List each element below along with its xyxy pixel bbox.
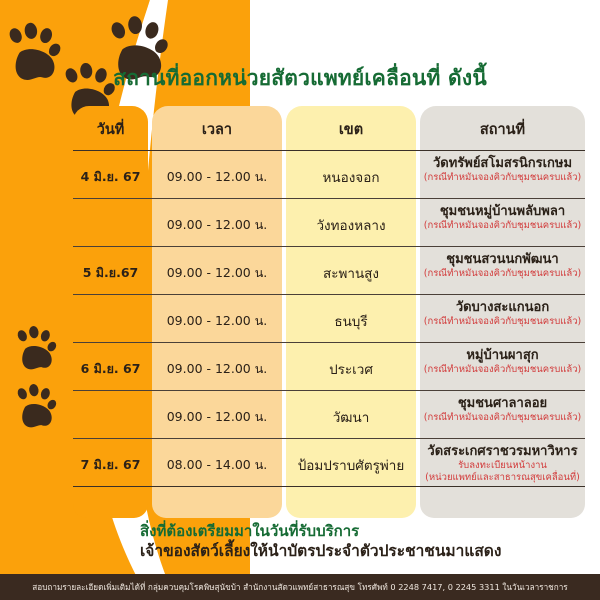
cell-time: 09.00 - 12.00 น.	[152, 215, 282, 235]
table-grid: วันที่ เวลา เขต สถานที่ 4 มิ.ย. 6709.00 …	[73, 106, 585, 518]
preparation-notes: สิ่งที่ต้องเตรียมมาในวันที่รับบริการ เจ้…	[140, 521, 501, 562]
cell-district: หนองจอก	[286, 166, 416, 188]
place-name: ชุมชนศาลาลอย	[420, 396, 585, 412]
cell-place: ชุมชนสวนนกพัฒนา(กรณีทำหมันจองคิวกับชุมชน…	[420, 252, 585, 280]
schedule-table: วันที่ เวลา เขต สถานที่ 4 มิ.ย. 6709.00 …	[73, 106, 585, 518]
place-name: วัดทรัพย์สโมสรนิกรเกษม	[420, 156, 585, 172]
row-separator	[73, 294, 585, 295]
header-place: สถานที่	[420, 120, 585, 140]
cell-time: 09.00 - 12.00 น.	[152, 359, 282, 379]
place-note: (กรณีทำหมันจองคิวกับชุมชนครบแล้ว)	[420, 316, 585, 328]
cell-time: 09.00 - 12.00 น.	[152, 167, 282, 187]
place-note: (กรณีทำหมันจองคิวกับชุมชนครบแล้ว)	[420, 172, 585, 184]
cell-district: วังทองหลาง	[286, 214, 416, 236]
row-separator	[73, 438, 585, 439]
cell-district: ประเวศ	[286, 358, 416, 380]
place-name: หมู่บ้านผาสุก	[420, 348, 585, 364]
place-name: วัดสระเกศราชวรมหาวิหาร	[420, 444, 585, 460]
row-separator	[73, 198, 585, 199]
cell-date: 6 มิ.ย. 67	[73, 359, 148, 379]
note-line-2: เจ้าของสัตว์เลี้ยงให้นำบัตรประจำตัวประชา…	[140, 541, 501, 562]
cell-place: วัดสระเกศราชวรมหาวิหารรับลงทะเบียนหน้างา…	[420, 444, 585, 484]
cell-place: ชุมชนหมู่บ้านพลับพลา(กรณีทำหมันจองคิวกับ…	[420, 204, 585, 232]
place-note: (กรณีทำหมันจองคิวกับชุมชนครบแล้ว)	[420, 364, 585, 376]
cell-date: 7 มิ.ย. 67	[73, 455, 148, 475]
cell-place: ชุมชนศาลาลอย(กรณีทำหมันจองคิวกับชุมชนครบ…	[420, 396, 585, 424]
cell-district: ธนบุรี	[286, 310, 416, 332]
header-separator	[73, 150, 585, 151]
cell-district: ป้อมปราบศัตรูพ่าย	[286, 454, 416, 476]
cell-place: วัดทรัพย์สโมสรนิกรเกษม(กรณีทำหมันจองคิวก…	[420, 156, 585, 184]
cell-date: 5 มิ.ย.67	[73, 263, 148, 283]
header-time: เวลา	[152, 120, 282, 140]
place-note-secondary: (หน่วยแพทย์และสาธารณสุขเคลื่อนที่)	[420, 472, 585, 484]
cell-district: สะพานสูง	[286, 262, 416, 284]
cell-district: วัฒนา	[286, 406, 416, 428]
row-separator	[73, 342, 585, 343]
place-note: (กรณีทำหมันจองคิวกับชุมชนครบแล้ว)	[420, 412, 585, 424]
row-separator	[73, 486, 585, 487]
place-note: รับลงทะเบียนหน้างาน	[420, 460, 585, 472]
cell-time: 08.00 - 14.00 น.	[152, 455, 282, 475]
note-line-1: สิ่งที่ต้องเตรียมมาในวันที่รับบริการ	[140, 521, 501, 541]
contact-footer: สอบถามรายละเอียดเพิ่มเติมได้ที่ กลุ่มควบ…	[0, 574, 600, 600]
place-name: ชุมชนหมู่บ้านพลับพลา	[420, 204, 585, 220]
place-note: (กรณีทำหมันจองคิวกับชุมชนครบแล้ว)	[420, 268, 585, 280]
place-note: (กรณีทำหมันจองคิวกับชุมชนครบแล้ว)	[420, 220, 585, 232]
header-date: วันที่	[73, 120, 148, 140]
page-title: สถานที่ออกหน่วยสัตวแพทย์เคลื่อนที่ ดังนี…	[0, 62, 600, 95]
cell-place: วัดบางสะแกนอก(กรณีทำหมันจองคิวกับชุมชนคร…	[420, 300, 585, 328]
place-name: วัดบางสะแกนอก	[420, 300, 585, 316]
cell-date: 4 มิ.ย. 67	[73, 167, 148, 187]
cell-time: 09.00 - 12.00 น.	[152, 311, 282, 331]
header-district: เขต	[286, 120, 416, 140]
cell-time: 09.00 - 12.00 น.	[152, 263, 282, 283]
row-separator	[73, 390, 585, 391]
place-name: ชุมชนสวนนกพัฒนา	[420, 252, 585, 268]
cell-time: 09.00 - 12.00 น.	[152, 407, 282, 427]
row-separator	[73, 246, 585, 247]
cell-place: หมู่บ้านผาสุก(กรณีทำหมันจองคิวกับชุมชนคร…	[420, 348, 585, 376]
